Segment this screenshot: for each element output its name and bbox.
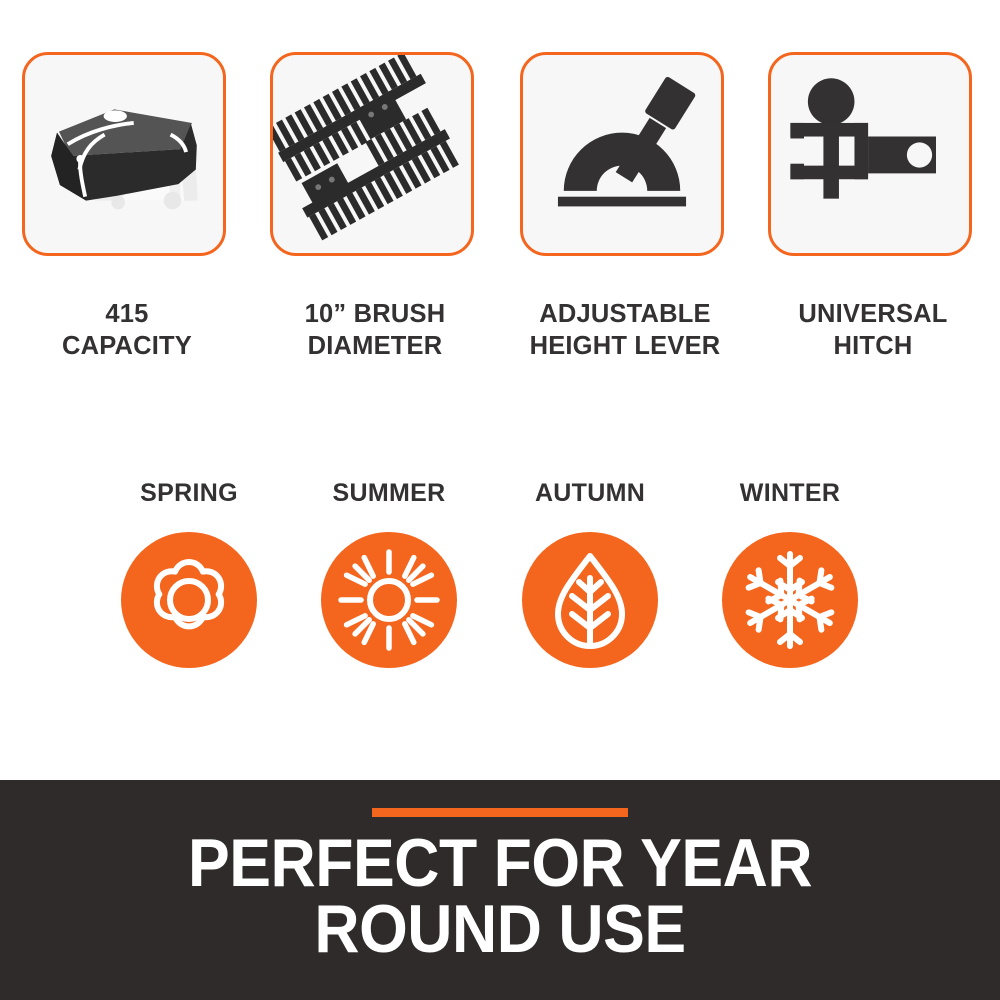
season-label-summer: SUMMER (289, 479, 489, 508)
feature-card-capacity (22, 52, 226, 256)
season-item-summer: SUMMER (289, 455, 489, 680)
feature-label-line1: ADJUSTABLE (539, 300, 711, 328)
season-item-spring: SPRING (89, 455, 289, 680)
season-item-winter: WINTER (690, 455, 890, 680)
feature-label-line2: HEIGHT LEVER (500, 330, 750, 362)
tow-hitch-icon (771, 55, 969, 253)
feature-label-universal-hitch: UNIVERSAL HITCH (748, 298, 998, 362)
sun-icon (321, 532, 457, 668)
feature-label-capacity: 415 CAPACITY (2, 298, 252, 362)
snowflake-icon (722, 532, 858, 668)
feature-label-line2: HITCH (748, 330, 998, 362)
season-label-spring: SPRING (89, 479, 289, 508)
feature-item-capacity: 415 CAPACITY (2, 0, 252, 390)
feature-card-universal-hitch (768, 52, 972, 256)
feature-item-brush-diameter: 10” BRUSH DIAMETER (250, 0, 500, 390)
banner-heading-line2: ROUND USE (40, 896, 960, 962)
bottom-banner: PERFECT FOR YEAR ROUND USE (0, 780, 1000, 1000)
feature-card-height-lever (520, 52, 724, 256)
flower-icon (121, 532, 257, 668)
catcher-bag-icon (25, 55, 223, 253)
feature-item-universal-hitch: UNIVERSAL HITCH (748, 0, 998, 390)
feature-label-height-lever: ADJUSTABLE HEIGHT LEVER (500, 298, 750, 362)
adjustable-lever-icon (523, 55, 721, 253)
season-badge-autumn (522, 532, 658, 668)
season-label-winter: WINTER (690, 479, 890, 508)
season-item-autumn: AUTUMN (490, 455, 690, 680)
feature-label-brush-diameter: 10” BRUSH DIAMETER (250, 298, 500, 362)
seasons-row: SPRING SUMMER (0, 455, 1000, 680)
feature-label-line1: UNIVERSAL (798, 300, 947, 328)
brush-rollers-icon (273, 55, 471, 253)
feature-label-line2: CAPACITY (2, 330, 252, 362)
feature-label-line1: 10” BRUSH (305, 300, 446, 328)
banner-heading-line1: PERFECT FOR YEAR (40, 830, 960, 896)
season-badge-winter (722, 532, 858, 668)
feature-highlights-row: 415 CAPACITY (0, 0, 1000, 390)
season-label-autumn: AUTUMN (490, 479, 690, 508)
banner-heading: PERFECT FOR YEAR ROUND USE (40, 830, 960, 962)
season-badge-summer (321, 532, 457, 668)
banner-accent-rule (372, 808, 628, 817)
leaf-icon (522, 532, 658, 668)
feature-card-brush-diameter (270, 52, 474, 256)
feature-label-line2: DIAMETER (250, 330, 500, 362)
season-badge-spring (121, 532, 257, 668)
feature-item-height-lever: ADJUSTABLE HEIGHT LEVER (500, 0, 750, 390)
feature-label-line1: 415 (105, 300, 148, 328)
